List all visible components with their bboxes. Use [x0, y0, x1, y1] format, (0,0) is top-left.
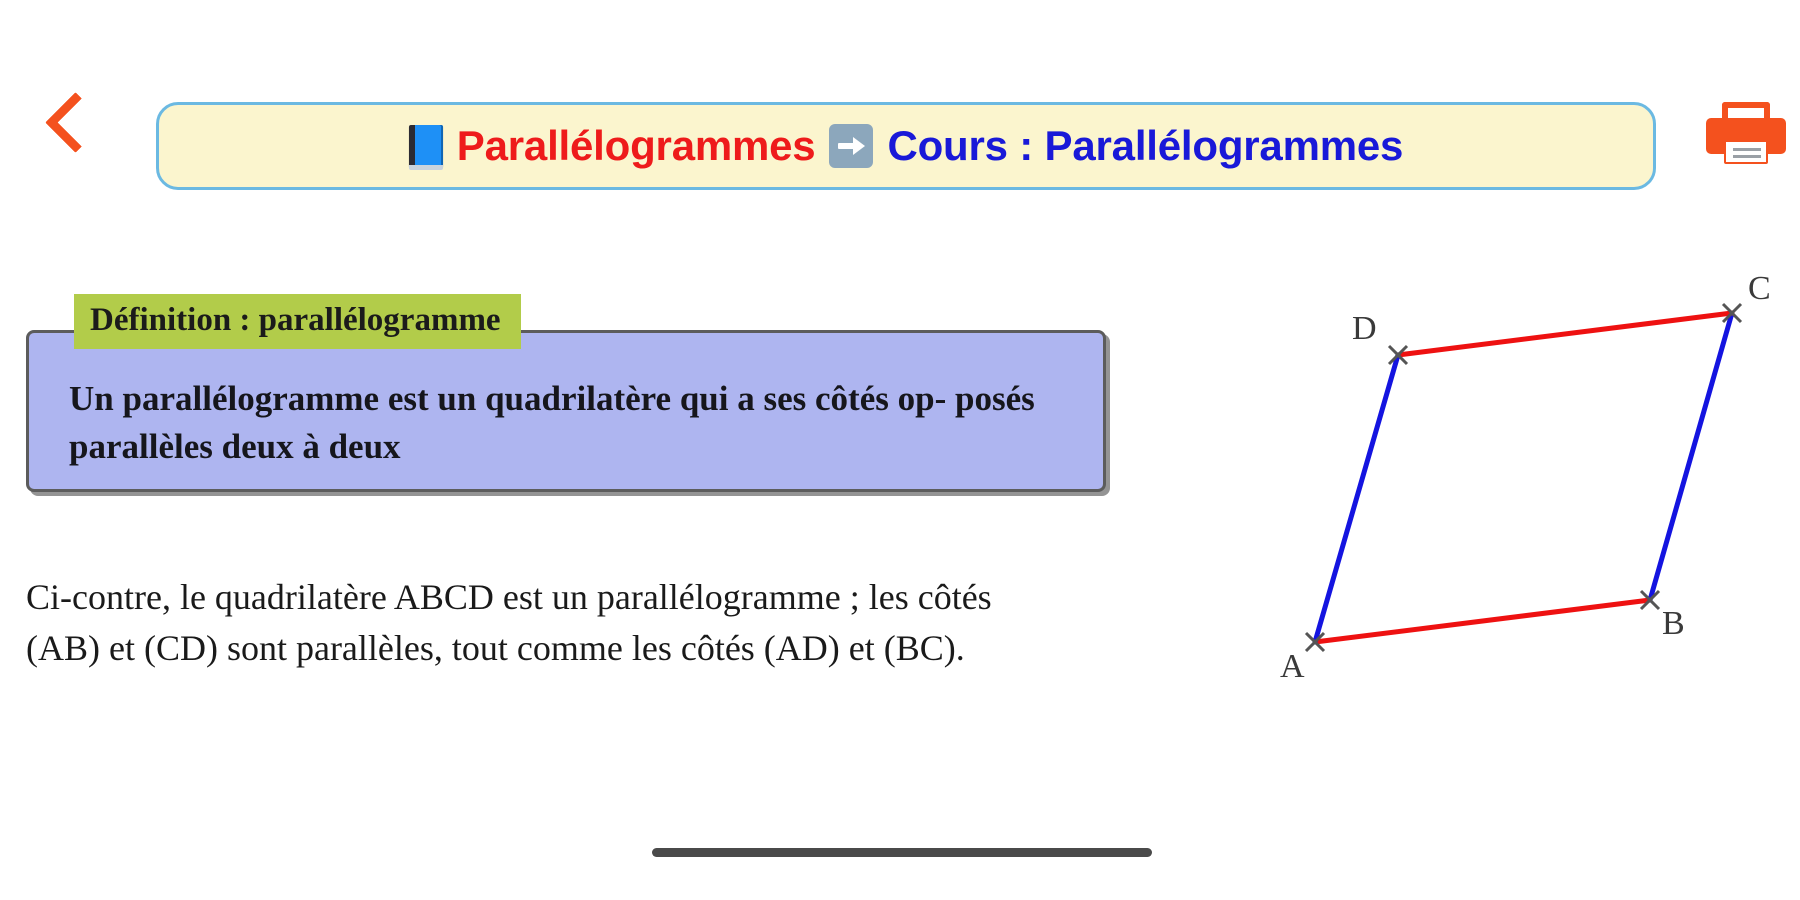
definition-box: Un parallélogramme est un quadrilatère q…	[26, 330, 1106, 492]
paragraph-line-1: Ci-contre, le quadrilatère ABCD est un p…	[26, 572, 1166, 623]
closed-book-icon	[409, 125, 443, 167]
app-header: Parallélogrammes Cours : Parallélogramme…	[0, 0, 1800, 205]
segment-BC	[1650, 313, 1732, 600]
definition-text: Un parallélogramme est un quadrilatère q…	[69, 375, 1069, 472]
vertex-label-B: B	[1662, 605, 1685, 643]
vertex-marks	[1306, 304, 1741, 651]
back-button[interactable]	[46, 95, 104, 161]
breadcrumb-title-pill[interactable]: Parallélogrammes Cours : Parallélogramme…	[156, 102, 1656, 190]
definition-line-1: Un parallélogramme est un quadrilatère q…	[69, 379, 946, 418]
definition-heading: Définition : parallélogramme	[74, 294, 521, 349]
printer-tray	[1722, 102, 1770, 118]
vertex-label-C: C	[1748, 270, 1771, 308]
right-arrow-icon	[829, 124, 873, 168]
breadcrumb-chapter-label: Parallélogrammes	[457, 122, 816, 170]
segment-AB	[1315, 600, 1650, 642]
printer-icon	[1706, 102, 1786, 170]
parallelogram-svg	[1170, 210, 1800, 720]
breadcrumb-page-label: Cours : Parallélogrammes	[887, 122, 1403, 170]
vertex-label-A: A	[1280, 648, 1305, 686]
printer-paper	[1724, 140, 1768, 164]
body-paragraph: Ci-contre, le quadrilatère ABCD est un p…	[26, 572, 1166, 674]
parallelogram-figure: ABCD	[1170, 210, 1800, 720]
print-button[interactable]	[1702, 96, 1798, 176]
paragraph-line-2: (AB) et (CD) sont parallèles, tout comme…	[26, 623, 1166, 674]
home-indicator	[652, 848, 1152, 857]
arrow-head	[853, 137, 865, 155]
parallelogram-sides	[1315, 313, 1732, 642]
vertex-label-D: D	[1352, 310, 1377, 348]
segment-DC	[1398, 313, 1732, 355]
segment-AD	[1315, 355, 1398, 642]
chevron-left-icon	[45, 92, 106, 153]
